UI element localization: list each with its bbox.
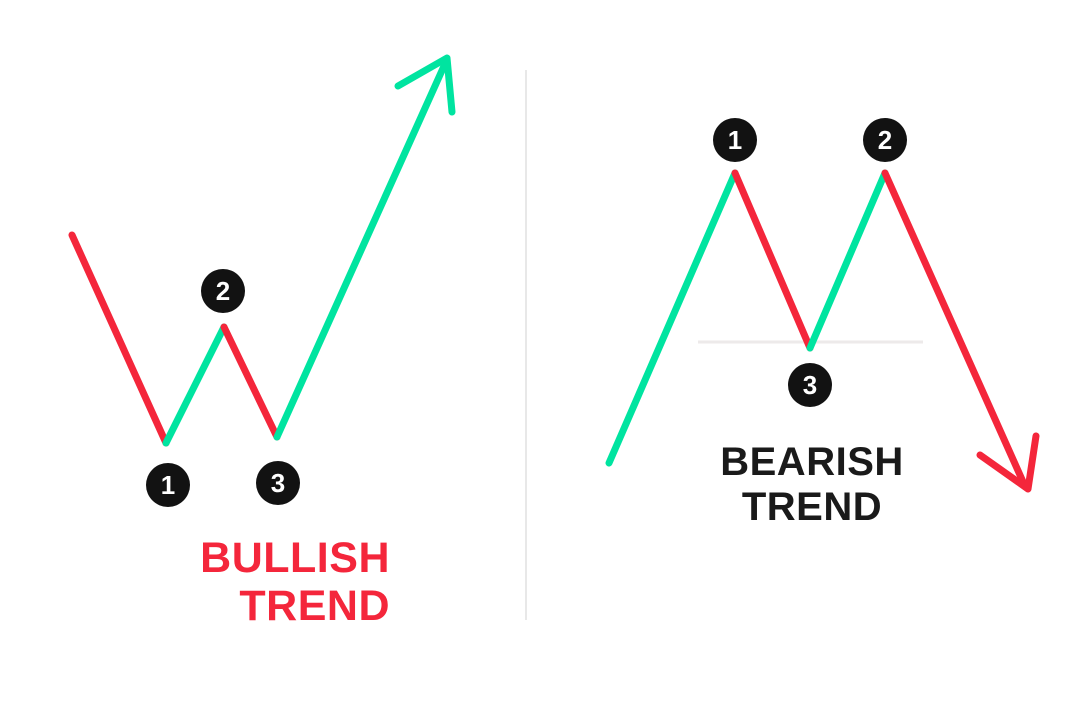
bearish-segment-down-1 [735,173,810,348]
bearish-point-badge-2[interactable]: 2 [863,118,907,162]
badge-label: 2 [878,127,892,153]
bullish-point-badge-1[interactable]: 1 [146,463,190,507]
bearish-point-badge-1[interactable]: 1 [713,118,757,162]
bullish-segment-up-1 [166,327,224,443]
badge-label: 1 [161,472,175,498]
badge-label: 3 [803,372,817,398]
bullish-segment-up-breakout [277,66,444,437]
bearish-segment-up-2 [810,173,885,348]
bearish-segment-down-breakdown [885,173,1024,484]
bearish-trend-caption: BEARISH TREND [690,440,934,530]
bullish-point-badge-3[interactable]: 3 [256,461,300,505]
bearish-segment-up-1 [609,173,735,463]
badge-label: 3 [271,470,285,496]
bullish-segment-down-2 [224,327,277,437]
bullish-segment-down-1 [72,235,166,443]
badge-label: 1 [728,127,742,153]
bearish-point-badge-3[interactable]: 3 [788,363,832,407]
trend-pattern-diagram: 1 2 3 1 2 3 BULLISH TREND BEARISH TREND [0,0,1080,720]
bullish-point-badge-2[interactable]: 2 [201,269,245,313]
bullish-trend-caption: BULLISH TREND [0,534,390,630]
bullish-panel-lines [72,58,452,443]
badge-label: 2 [216,278,230,304]
